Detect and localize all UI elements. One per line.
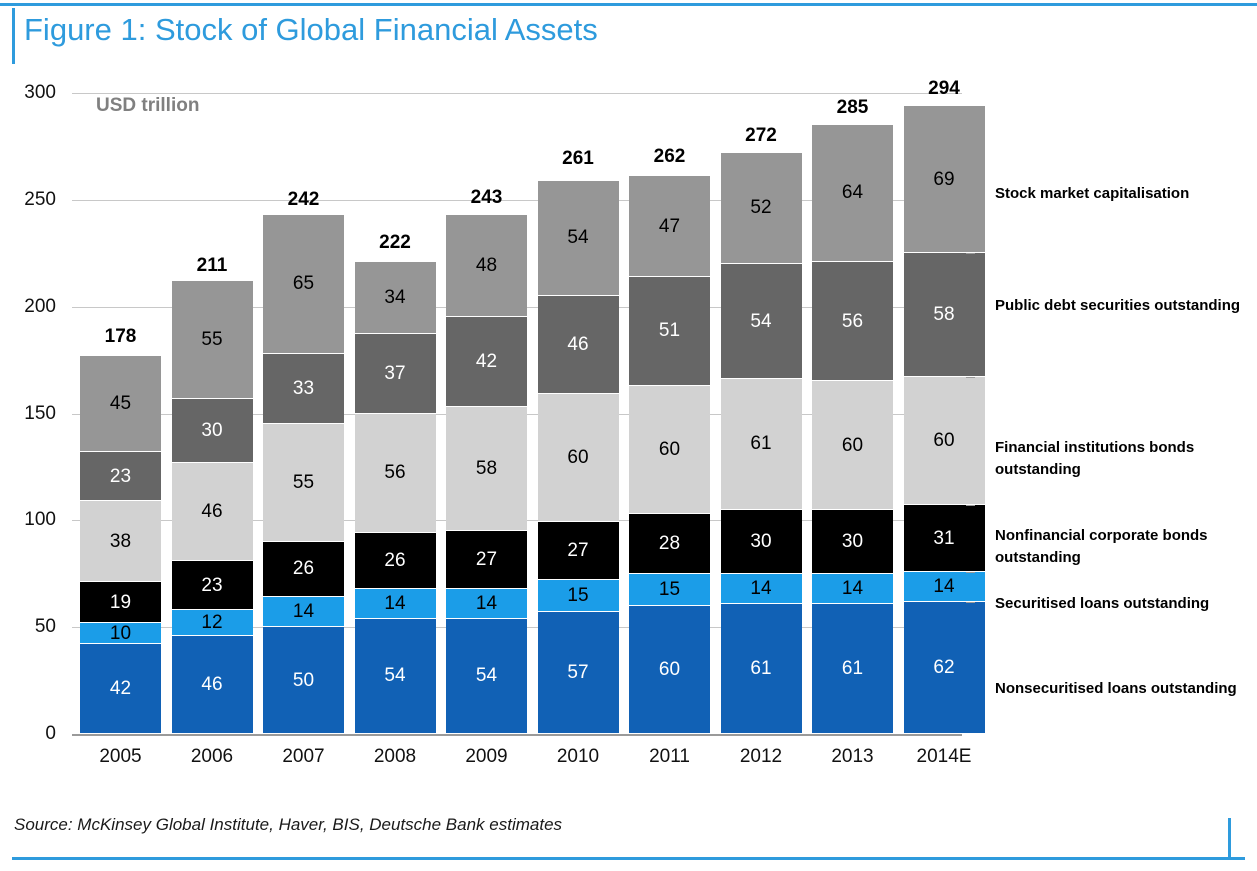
legend-connector-tick bbox=[966, 505, 975, 506]
bar-segment[interactable]: 12 bbox=[172, 610, 253, 636]
segment-value-label: 47 bbox=[659, 217, 680, 236]
segment-value-label: 30 bbox=[201, 421, 222, 440]
segment-value-label: 46 bbox=[201, 675, 222, 694]
bar-segment[interactable]: 51 bbox=[629, 277, 710, 386]
bar-2005[interactable]: 421019382345 bbox=[80, 354, 161, 734]
x-axis-tick-label: 2006 bbox=[162, 746, 262, 768]
bar-segment[interactable]: 55 bbox=[172, 281, 253, 399]
bar-segment[interactable]: 57 bbox=[538, 612, 619, 734]
segment-value-label: 14 bbox=[476, 594, 497, 613]
bar-segment[interactable]: 54 bbox=[446, 619, 527, 734]
bar-segment[interactable]: 54 bbox=[538, 181, 619, 296]
bar-2011[interactable]: 601528605147 bbox=[629, 174, 710, 734]
bar-total-label: 242 bbox=[263, 189, 344, 211]
segment-value-label: 33 bbox=[293, 379, 314, 398]
segment-value-label: 61 bbox=[750, 434, 771, 453]
bar-segment[interactable]: 30 bbox=[721, 510, 802, 574]
bar-segment[interactable]: 60 bbox=[904, 377, 985, 505]
bar-segment[interactable]: 60 bbox=[538, 394, 619, 522]
y-axis-tick-label: 200 bbox=[0, 297, 56, 316]
x-axis-line bbox=[72, 734, 962, 736]
bar-total-label: 262 bbox=[629, 146, 710, 168]
bar-2014E[interactable]: 621431605869 bbox=[904, 106, 985, 734]
bar-segment[interactable]: 14 bbox=[812, 574, 893, 604]
x-axis-tick-label: 2009 bbox=[437, 746, 537, 768]
y-axis-tick-label: 0 bbox=[0, 724, 56, 743]
segment-value-label: 42 bbox=[110, 679, 131, 698]
bar-total-label: 285 bbox=[812, 97, 893, 119]
bar-total-label: 272 bbox=[721, 125, 802, 147]
bar-segment[interactable]: 14 bbox=[904, 572, 985, 602]
segment-value-label: 60 bbox=[659, 440, 680, 459]
y-axis-tick-label: 300 bbox=[0, 83, 56, 102]
segment-value-label: 30 bbox=[842, 532, 863, 551]
bar-segment[interactable]: 33 bbox=[263, 354, 344, 425]
stacked-bar-chart: 4210193823454612234630555014265533655414… bbox=[0, 0, 1257, 871]
segment-value-label: 60 bbox=[659, 660, 680, 679]
bar-segment[interactable]: 19 bbox=[80, 582, 161, 623]
segment-value-label: 54 bbox=[476, 666, 497, 685]
segment-value-label: 46 bbox=[201, 502, 222, 521]
bar-segment[interactable]: 58 bbox=[446, 407, 527, 531]
bar-2008[interactable]: 541426563734 bbox=[355, 260, 436, 734]
bar-segment[interactable]: 14 bbox=[263, 597, 344, 627]
bar-segment[interactable]: 10 bbox=[80, 623, 161, 644]
segment-value-label: 28 bbox=[659, 534, 680, 553]
segment-value-label: 62 bbox=[933, 658, 954, 677]
segment-value-label: 14 bbox=[933, 577, 954, 596]
bar-2012[interactable]: 611430615452 bbox=[721, 153, 802, 734]
segment-value-label: 14 bbox=[384, 594, 405, 613]
segment-value-label: 15 bbox=[659, 580, 680, 599]
bar-segment[interactable]: 28 bbox=[629, 514, 710, 574]
bar-total-label: 178 bbox=[80, 326, 161, 348]
segment-value-label: 46 bbox=[567, 335, 588, 354]
bar-2009[interactable]: 541427584248 bbox=[446, 215, 527, 734]
bar-segment[interactable]: 27 bbox=[538, 522, 619, 580]
bar-segment[interactable]: 26 bbox=[355, 533, 436, 589]
segment-value-label: 60 bbox=[567, 448, 588, 467]
segment-value-label: 54 bbox=[750, 312, 771, 331]
y-axis-tick-label: 50 bbox=[0, 617, 56, 636]
segment-value-label: 34 bbox=[384, 288, 405, 307]
segment-value-label: 48 bbox=[476, 256, 497, 275]
bar-segment[interactable]: 14 bbox=[721, 574, 802, 604]
bar-segment[interactable]: 15 bbox=[629, 574, 710, 606]
segment-value-label: 23 bbox=[201, 576, 222, 595]
segment-value-label: 30 bbox=[750, 532, 771, 551]
legend-label[interactable]: Financial institutions bonds outstanding bbox=[995, 437, 1245, 481]
legend-label[interactable]: Stock market capitalisation bbox=[995, 183, 1245, 205]
bar-segment[interactable]: 48 bbox=[446, 215, 527, 318]
bar-segment[interactable]: 64 bbox=[812, 125, 893, 262]
bar-total-label: 294 bbox=[904, 78, 985, 100]
bar-segment[interactable]: 30 bbox=[172, 399, 253, 463]
bar-segment[interactable]: 38 bbox=[80, 501, 161, 582]
segment-value-label: 45 bbox=[110, 394, 131, 413]
bar-segment[interactable]: 23 bbox=[172, 561, 253, 610]
segment-value-label: 52 bbox=[750, 198, 771, 217]
bar-segment[interactable]: 45 bbox=[80, 356, 161, 452]
segment-value-label: 31 bbox=[933, 529, 954, 548]
segment-value-label: 15 bbox=[567, 586, 588, 605]
legend-label[interactable]: Nonfinancial corporate bonds outstanding bbox=[995, 525, 1245, 569]
legend-label[interactable]: Nonsecuritised loans outstanding bbox=[995, 678, 1245, 700]
segment-value-label: 27 bbox=[476, 550, 497, 569]
source-note: Source: McKinsey Global Institute, Haver… bbox=[14, 815, 562, 835]
segment-value-label: 54 bbox=[567, 228, 588, 247]
segment-value-label: 60 bbox=[842, 436, 863, 455]
legend-label[interactable]: Securitised loans outstanding bbox=[995, 593, 1245, 615]
segment-value-label: 56 bbox=[842, 312, 863, 331]
x-axis-tick-label: 2008 bbox=[345, 746, 445, 768]
bar-segment[interactable]: 27 bbox=[446, 531, 527, 589]
bar-2013[interactable]: 611430605664 bbox=[812, 125, 893, 734]
bar-segment[interactable]: 15 bbox=[538, 580, 619, 612]
bar-segment[interactable]: 34 bbox=[355, 262, 436, 335]
x-axis-tick-label: 2010 bbox=[528, 746, 628, 768]
legend-label[interactable]: Public debt securities outstanding bbox=[995, 295, 1245, 317]
bar-2010[interactable]: 571527604654 bbox=[538, 176, 619, 734]
bar-segment[interactable]: 37 bbox=[355, 334, 436, 413]
y-axis-tick-label: 100 bbox=[0, 510, 56, 529]
bar-segment[interactable]: 46 bbox=[538, 296, 619, 394]
bar-segment[interactable]: 61 bbox=[721, 379, 802, 509]
bar-2006[interactable]: 461223463055 bbox=[172, 283, 253, 734]
segment-value-label: 12 bbox=[201, 613, 222, 632]
legend-connector-tick bbox=[966, 572, 975, 573]
gridline bbox=[72, 93, 962, 94]
segment-value-label: 57 bbox=[567, 663, 588, 682]
bar-segment[interactable]: 69 bbox=[904, 106, 985, 253]
bar-segment[interactable]: 61 bbox=[812, 604, 893, 734]
bar-segment[interactable]: 46 bbox=[172, 463, 253, 561]
segment-value-label: 26 bbox=[384, 551, 405, 570]
segment-value-label: 26 bbox=[293, 559, 314, 578]
bar-segment[interactable]: 55 bbox=[263, 424, 344, 542]
bar-segment[interactable]: 54 bbox=[355, 619, 436, 734]
x-axis-tick-label: 2011 bbox=[620, 746, 720, 768]
bar-segment[interactable]: 14 bbox=[446, 589, 527, 619]
bar-segment[interactable]: 42 bbox=[446, 317, 527, 407]
bar-segment[interactable]: 14 bbox=[355, 589, 436, 619]
segment-value-label: 61 bbox=[842, 659, 863, 678]
y-axis-tick-label: 150 bbox=[0, 404, 56, 423]
segment-value-label: 58 bbox=[933, 305, 954, 324]
x-axis-tick-label: 2013 bbox=[803, 746, 903, 768]
bar-segment[interactable]: 60 bbox=[629, 386, 710, 514]
bar-segment[interactable]: 54 bbox=[721, 264, 802, 379]
x-axis-tick-label: 2012 bbox=[711, 746, 811, 768]
bar-segment[interactable]: 65 bbox=[263, 215, 344, 354]
bar-2007[interactable]: 501426553365 bbox=[263, 217, 344, 734]
segment-value-label: 27 bbox=[567, 541, 588, 560]
segment-value-label: 42 bbox=[476, 352, 497, 371]
segment-value-label: 37 bbox=[384, 364, 405, 383]
segment-value-label: 14 bbox=[842, 579, 863, 598]
bar-segment[interactable]: 58 bbox=[904, 253, 985, 377]
bar-total-label: 243 bbox=[446, 187, 527, 209]
bar-segment[interactable]: 62 bbox=[904, 602, 985, 734]
bar-segment[interactable]: 47 bbox=[629, 176, 710, 276]
figure-page: Figure 1: Stock of Global Financial Asse… bbox=[0, 0, 1257, 871]
segment-value-label: 69 bbox=[933, 170, 954, 189]
x-axis-tick-label: 2005 bbox=[71, 746, 171, 768]
segment-value-label: 14 bbox=[293, 602, 314, 621]
x-axis-tick-label: 2014E bbox=[894, 746, 994, 768]
segment-value-label: 38 bbox=[110, 532, 131, 551]
segment-value-label: 60 bbox=[933, 431, 954, 450]
legend-connector-tick bbox=[966, 602, 975, 603]
segment-value-label: 10 bbox=[110, 624, 131, 643]
bar-segment[interactable]: 60 bbox=[812, 381, 893, 509]
bar-segment[interactable]: 52 bbox=[721, 153, 802, 264]
bar-total-label: 222 bbox=[355, 232, 436, 254]
bar-segment[interactable]: 56 bbox=[355, 414, 436, 534]
bar-segment[interactable]: 26 bbox=[263, 542, 344, 598]
segment-value-label: 50 bbox=[293, 671, 314, 690]
segment-value-label: 55 bbox=[293, 473, 314, 492]
segment-value-label: 14 bbox=[750, 579, 771, 598]
bar-segment[interactable]: 42 bbox=[80, 644, 161, 734]
segment-value-label: 19 bbox=[110, 593, 131, 612]
bar-segment[interactable]: 61 bbox=[721, 604, 802, 734]
y-axis-tick-label: 250 bbox=[0, 190, 56, 209]
x-axis-tick-label: 2007 bbox=[254, 746, 354, 768]
segment-value-label: 56 bbox=[384, 463, 405, 482]
legend-connector-tick bbox=[966, 377, 975, 378]
segment-value-label: 54 bbox=[384, 666, 405, 685]
bar-segment[interactable]: 50 bbox=[263, 627, 344, 734]
bar-segment[interactable]: 31 bbox=[904, 505, 985, 571]
segment-value-label: 51 bbox=[659, 321, 680, 340]
bar-segment[interactable]: 60 bbox=[629, 606, 710, 734]
segment-value-label: 23 bbox=[110, 467, 131, 486]
segment-value-label: 61 bbox=[750, 659, 771, 678]
bar-segment[interactable]: 46 bbox=[172, 636, 253, 734]
segment-value-label: 65 bbox=[293, 274, 314, 293]
segment-value-label: 64 bbox=[842, 183, 863, 202]
segment-value-label: 58 bbox=[476, 459, 497, 478]
bar-segment[interactable]: 23 bbox=[80, 452, 161, 501]
segment-value-label: 55 bbox=[201, 330, 222, 349]
bar-total-label: 261 bbox=[538, 148, 619, 170]
bar-segment[interactable]: 56 bbox=[812, 262, 893, 382]
bar-total-label: 211 bbox=[172, 255, 253, 277]
bar-segment[interactable]: 30 bbox=[812, 510, 893, 574]
legend-connector-tick bbox=[966, 253, 975, 254]
